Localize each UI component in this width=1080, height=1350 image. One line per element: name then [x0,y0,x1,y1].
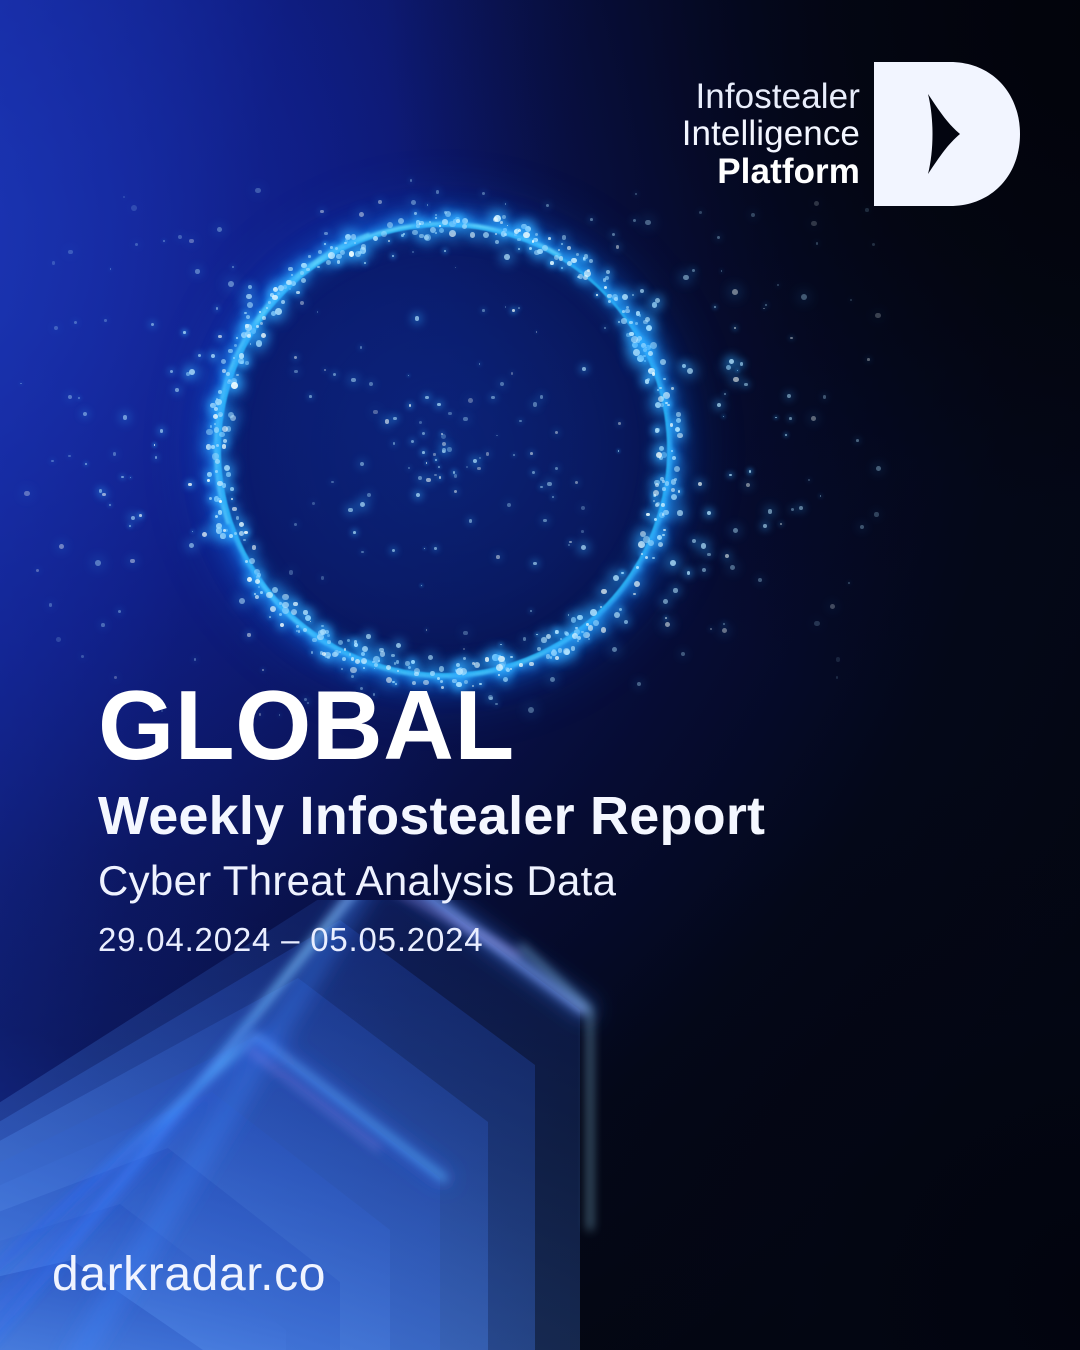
report-description: Cyber Threat Analysis Data [98,856,998,906]
report-cover-poster: Infostealer Intelligence Platform GLOBAL… [0,0,1080,1350]
report-date-range: 29.04.2024 – 05.05.2024 [98,920,998,960]
platform-logo: Infostealer Intelligence Platform [682,60,1022,208]
report-subtitle: Weekly Infostealer Report [98,786,998,846]
logo-line-intelligence: Intelligence [682,115,860,152]
logo-line-infostealer: Infostealer [682,78,860,115]
logo-line-platform: Platform [682,153,860,190]
page-title: GLOBAL [98,676,998,774]
logo-wordmark: Infostealer Intelligence Platform [682,78,860,189]
site-url[interactable]: darkradar.co [52,1247,326,1302]
darkradar-d-mark-icon [874,60,1022,208]
title-block: GLOBAL Weekly Infostealer Report Cyber T… [98,676,998,960]
